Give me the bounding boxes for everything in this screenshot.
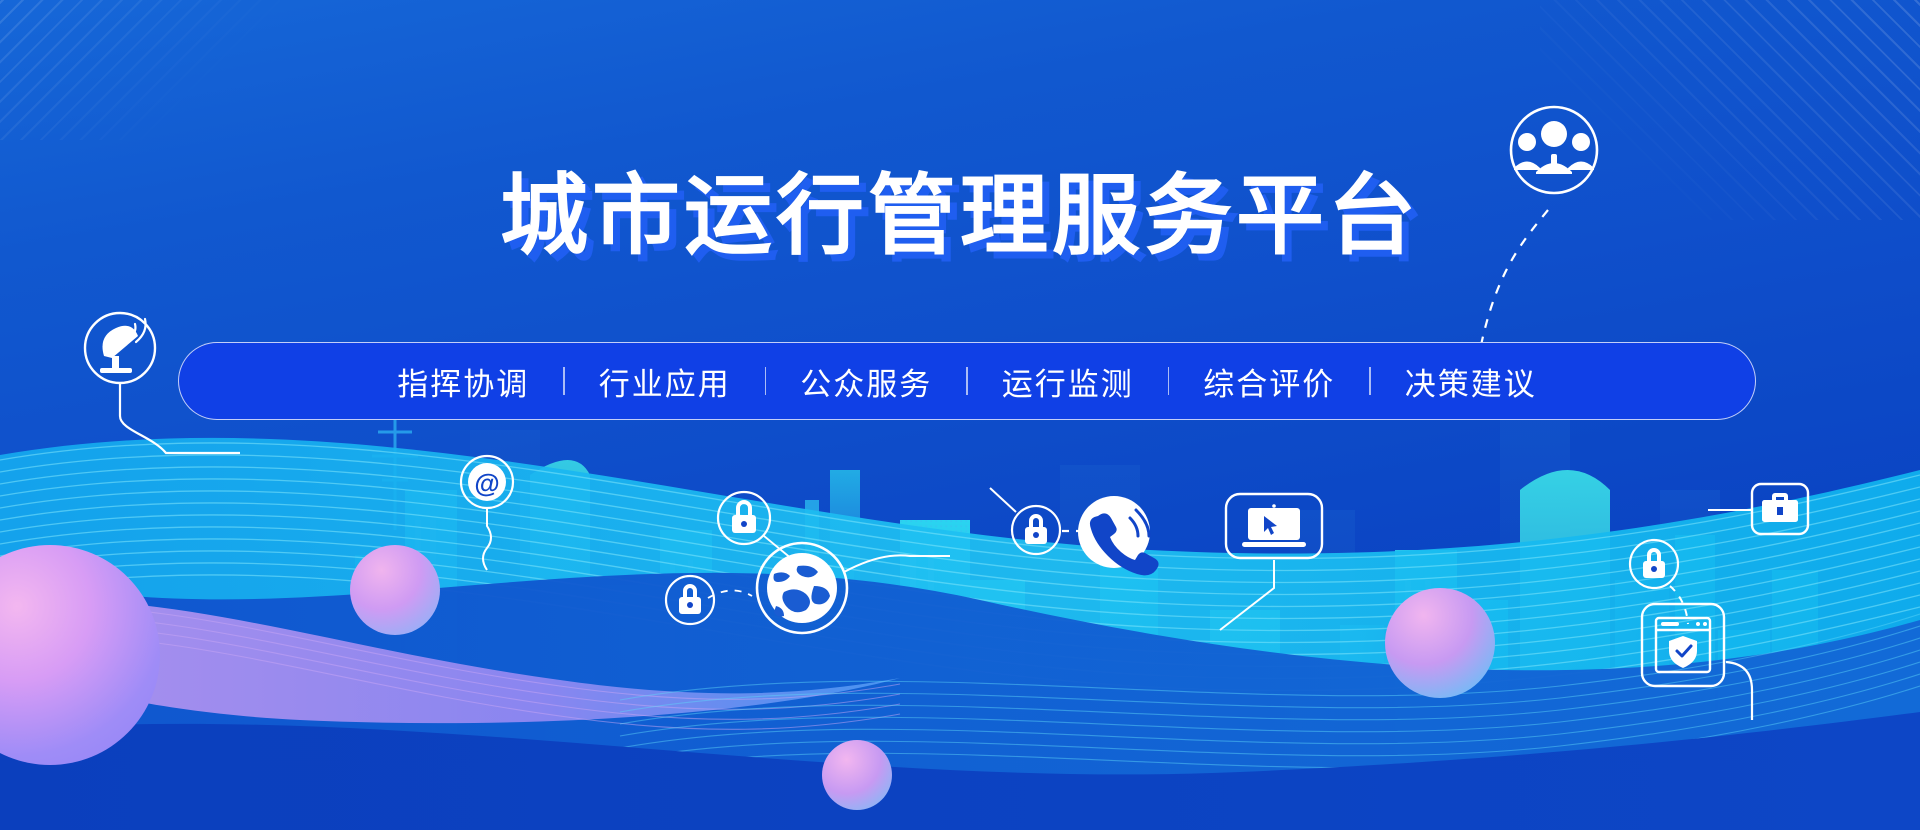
phone-call-icon [1064,482,1174,592]
nav-item-3[interactable]: 公众服务 [766,359,966,404]
decorative-sphere-small-left [350,545,440,635]
briefcase-icon [1736,478,1866,558]
at-sign-icon: @ [440,448,570,588]
globe-icon [740,518,960,658]
decorative-sphere-medium-right [1385,588,1495,698]
nav-item-2[interactable]: 行业应用 [565,359,765,404]
page-title: 城市运行管理服务平台 [500,172,1420,260]
nav-item-4[interactable]: 运行监测 [968,359,1168,404]
decorative-sphere-small-center [822,740,892,810]
diagonal-hatch-top-left [0,0,280,140]
laptop-cursor-icon [1220,490,1390,650]
main-navigation-bar[interactable]: 指挥协调行业应用公众服务运行监测综合评价决策建议 [178,342,1756,420]
nav-item-5[interactable]: 综合评价 [1169,359,1369,404]
browser-shield-icon [1638,600,1818,750]
nav-item-6[interactable]: 决策建议 [1371,359,1571,404]
nav-item-1[interactable]: 指挥协调 [363,359,563,404]
svg-text:@: @ [474,468,499,498]
people-group-icon [1452,92,1652,352]
city-platform-banner: @ [0,0,1920,830]
